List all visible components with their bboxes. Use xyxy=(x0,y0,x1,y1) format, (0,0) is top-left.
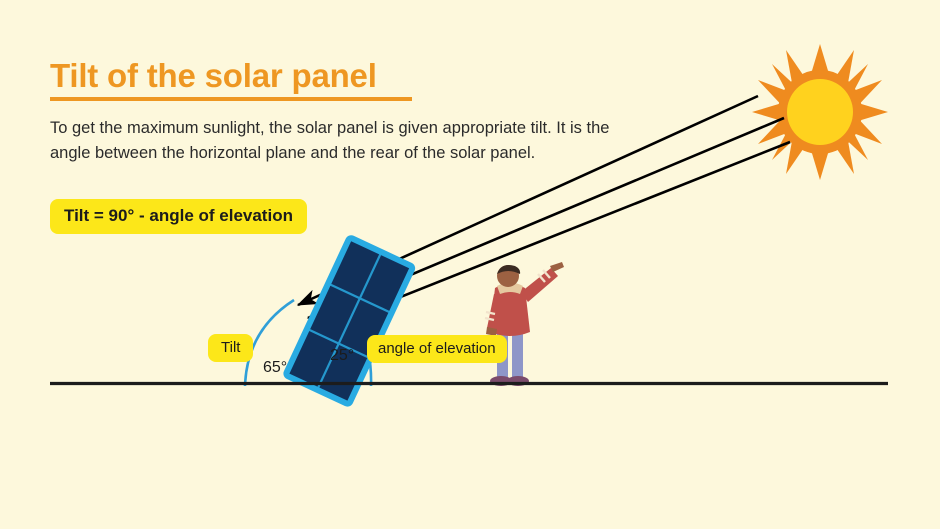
page-title: Tilt of the solar panel xyxy=(50,57,377,95)
tilt-angle-value: 65° xyxy=(263,359,287,377)
slide-canvas: Tilt of the solar panel To get the maxim… xyxy=(0,0,940,529)
formula-badge: Tilt = 90° - angle of elevation xyxy=(50,199,307,234)
elevation-label-badge: angle of elevation xyxy=(367,335,507,363)
elevation-angle-value: 25° xyxy=(330,347,354,365)
title-underline xyxy=(50,97,412,101)
body-paragraph: To get the maximum sunlight, the solar p… xyxy=(50,116,635,166)
tilt-label-badge: Tilt xyxy=(208,334,253,362)
text-layer: Tilt of the solar panel To get the maxim… xyxy=(0,0,940,529)
